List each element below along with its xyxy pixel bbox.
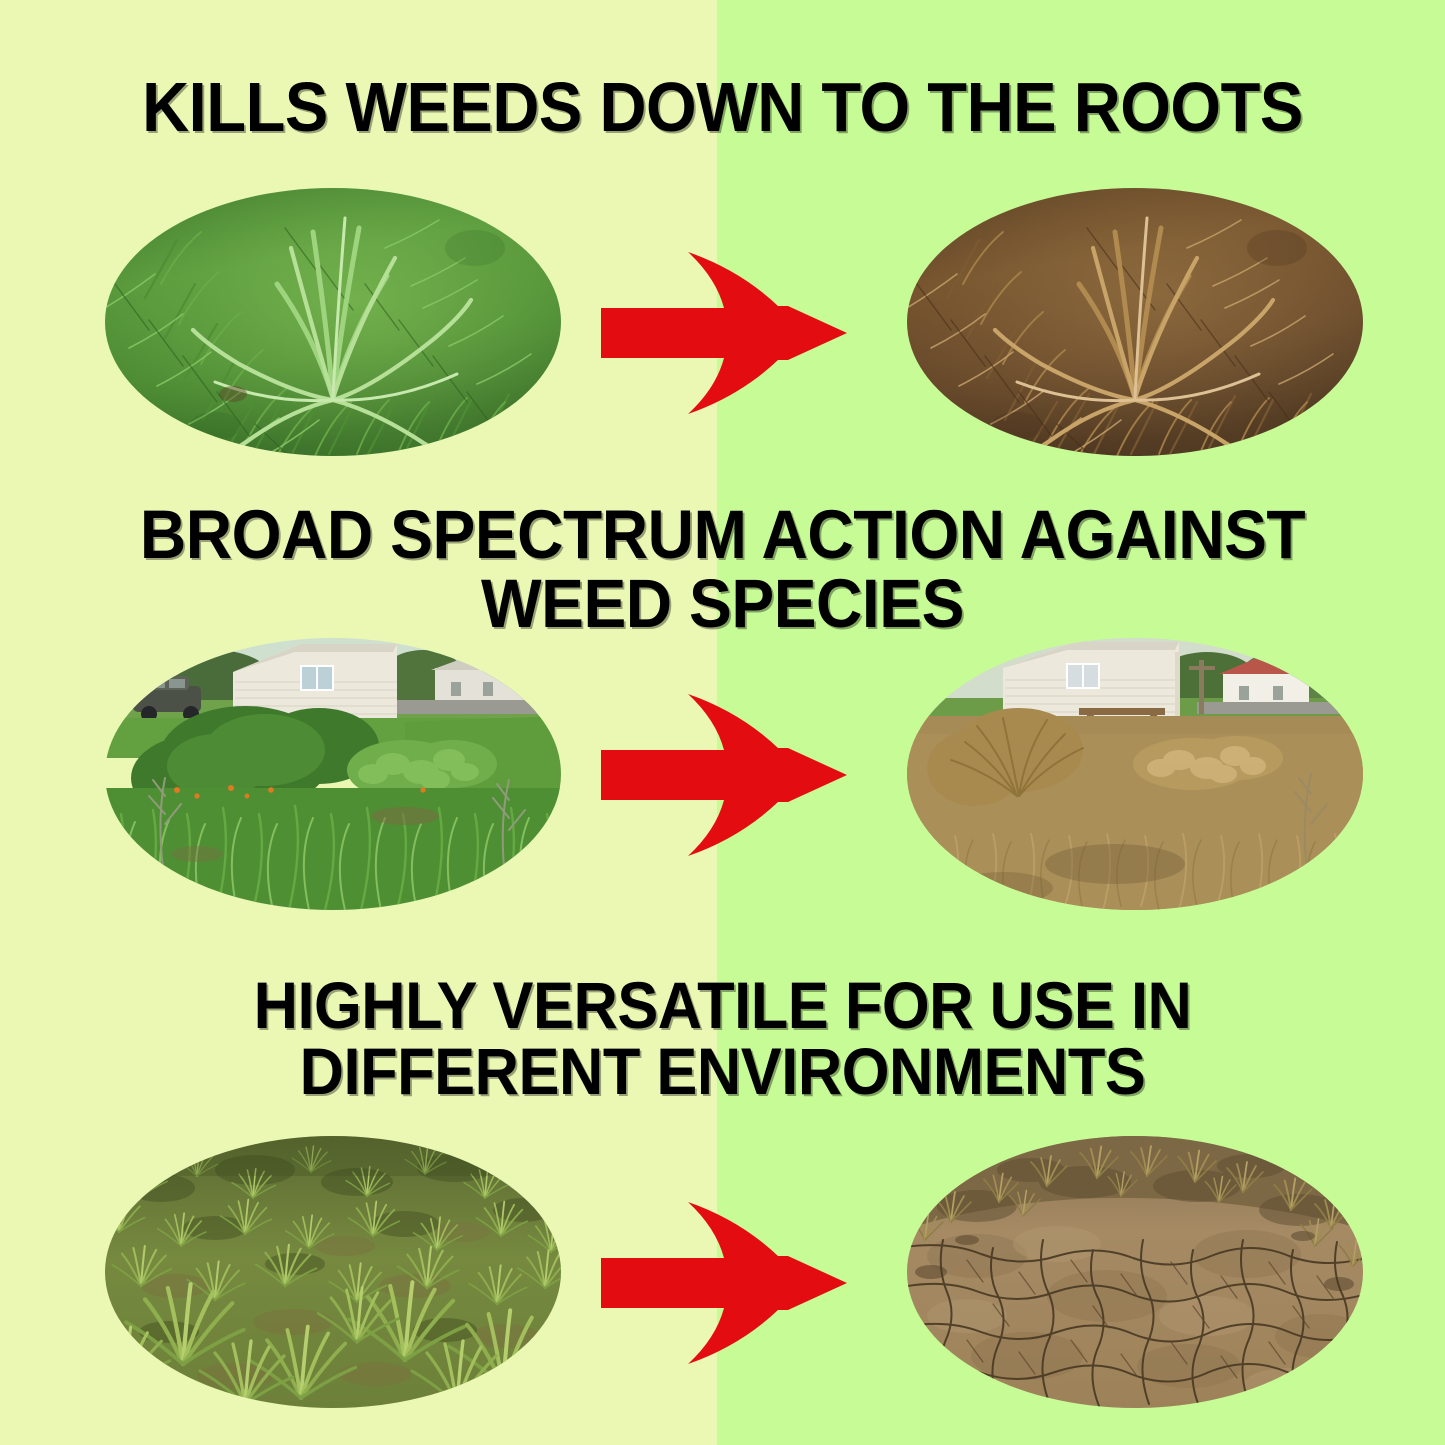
infographic-canvas: KILLS WEEDS DOWN TO THE ROOTS [0, 0, 1445, 1445]
transition-arrow-row-1 [598, 250, 850, 421]
photo-green-tufted-grass-field [105, 1136, 561, 1408]
headline-broad-spectrum-action: BROAD SPECTRUM ACTION AGAINST WEED SPECI… [51, 500, 1395, 638]
headline-kills-weeds-down-to-the-roots: KILLS WEEDS DOWN TO THE ROOTS [51, 72, 1395, 142]
photo-cracked-dry-barren-soil [907, 1136, 1363, 1408]
transition-arrow-row-3 [598, 1200, 850, 1371]
photo-dead-brown-grass-clump [907, 188, 1363, 456]
headline-highly-versatile: HIGHLY VERSATILE FOR USE IN DIFFERENT EN… [51, 972, 1395, 1104]
transition-arrow-row-2 [598, 692, 850, 863]
photo-overgrown-green-yard-garden [105, 638, 561, 910]
photo-green-grass-weed-clump [105, 188, 561, 456]
photo-dead-brown-yard-garden [907, 638, 1363, 910]
